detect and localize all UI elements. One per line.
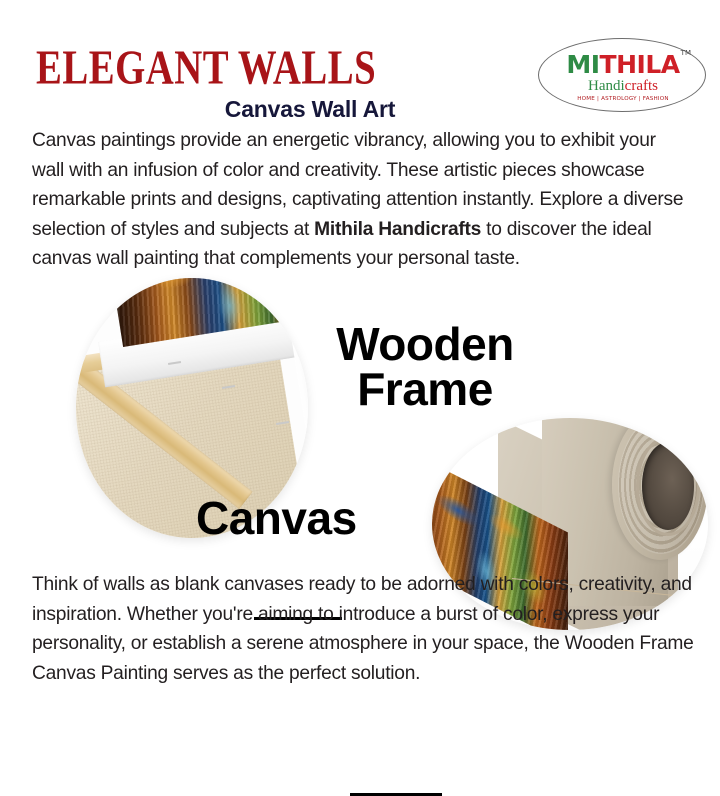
canvas-label: Canvas [196, 496, 357, 541]
brand-logo-subtitle-handi: Handi [588, 78, 625, 94]
canvas-roll-core-hole [642, 442, 694, 530]
brand-logo-wordmark-mi: MI [566, 50, 599, 79]
trademark-icon: TM [681, 49, 691, 57]
brand-logo-wordmark-hila: HILA [616, 50, 680, 79]
brand-logo-subtitle: Handicrafts [539, 79, 707, 94]
wooden-frame-label-line1: Wooden [330, 322, 520, 367]
infographic-page: ELEGANT WALLS MITHILA TM Handicrafts HOM… [0, 0, 720, 720]
wooden-frame-label: WoodenFrame [330, 322, 520, 412]
brand-logo-wordmark-t: T [600, 50, 617, 79]
brand-mention: Mithila Handicrafts [314, 219, 481, 240]
wooden-frame-label-line2: Frame [330, 367, 520, 412]
page-title: ELEGANT WALLS [36, 44, 376, 93]
product-illustration-area [0, 270, 720, 570]
brand-logo-subtitle-crafts: crafts [625, 78, 658, 94]
intro-paragraph: Canvas paintings provide an energetic vi… [32, 126, 692, 274]
header: ELEGANT WALLS MITHILA TM Handicrafts HOM… [0, 0, 720, 108]
section-subtitle: Canvas Wall Art [0, 96, 620, 123]
closing-paragraph: Think of walls as blank canvases ready t… [32, 570, 700, 688]
